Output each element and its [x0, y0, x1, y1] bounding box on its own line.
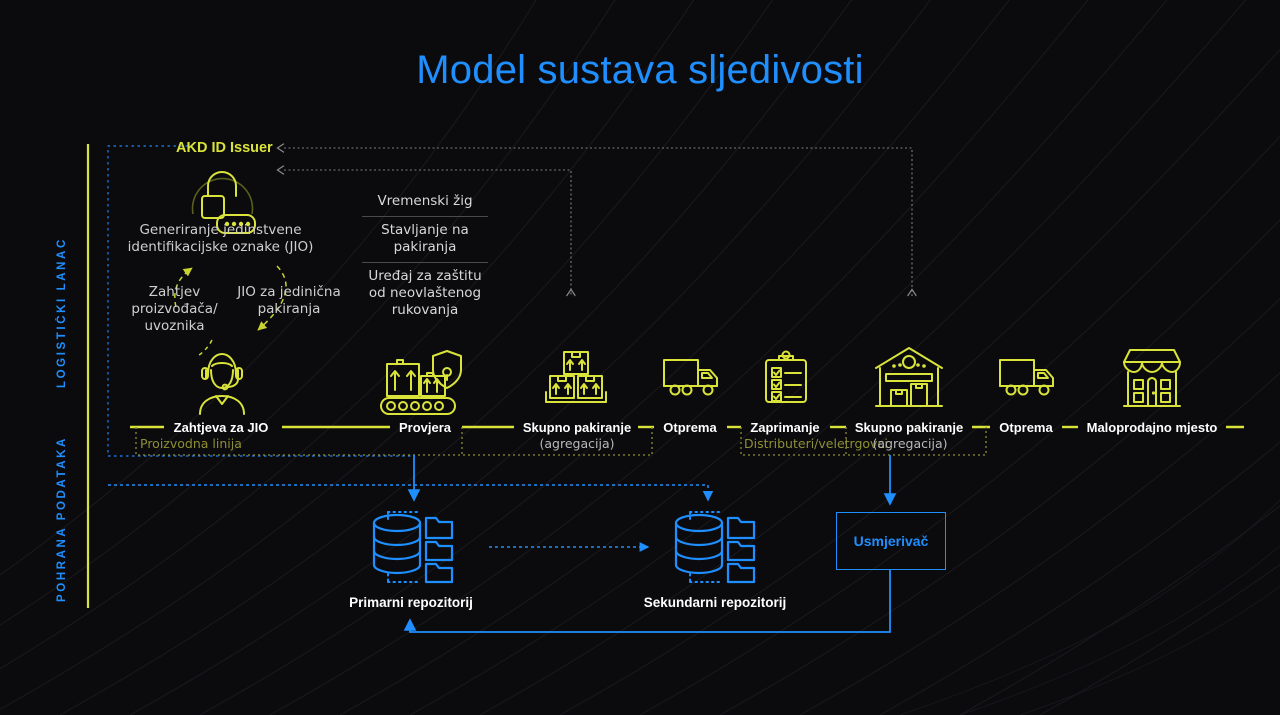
clipboard-check-icon: [766, 352, 806, 403]
router-label: Usmjerivač: [854, 533, 929, 549]
database-folders-icon: [374, 512, 452, 582]
stage-label-skupno-pakiranje-2: Skupno pakiranje: [843, 420, 975, 435]
primary-repository-label: Primarni repozitorij: [330, 595, 492, 610]
stage-label-zaprimanje: Zaprimanje: [738, 420, 832, 435]
stage-label-provjera: Provjera: [387, 420, 463, 435]
warehouse-icon: [876, 348, 942, 406]
stage-label-maloprodajno-mjesto: Maloprodajno mjesto: [1076, 420, 1228, 435]
issuer-jio-label: JIO za jedinična pakiranja: [230, 284, 348, 318]
security-features-list: Vremenski žig Stavljanje na pakiranja Ur…: [362, 188, 488, 325]
truck-icon: [664, 360, 717, 395]
axis-label-data-storage: POHRANA PODATAKA: [56, 438, 68, 602]
security-feature-item: Stavljanje na pakiranja: [362, 216, 488, 262]
stage-label-zahtjeva-za-jio: Zahtjeva za JIO: [161, 420, 281, 435]
conveyor-shield-icon: [381, 351, 461, 414]
issuer-request-label: Zahtjev proizvođača/ uvoznika: [122, 284, 227, 335]
axis-label-supply-chain: LOGISTIČKI LANAC: [56, 252, 68, 388]
database-folders-icon: [676, 512, 754, 582]
security-feature-item: Uređaj za zaštitu od neovlaštenog rukova…: [362, 262, 488, 325]
storefront-icon: [1124, 350, 1180, 406]
stage-label-otprema-2: Otprema: [987, 420, 1065, 435]
cycle-arrow-return: [198, 340, 212, 356]
router-box[interactable]: Usmjerivač: [836, 512, 946, 570]
stacked-boxes-icon: [546, 352, 606, 402]
issuer-title: AKD ID Issuer: [176, 140, 273, 156]
stage-sub-agregacija-1: (agregacija): [511, 436, 643, 451]
operator-headset-icon: [200, 354, 244, 414]
stage-label-skupno-pakiranje-1: Skupno pakiranje: [511, 420, 643, 435]
stage-sub-proizvodna-linija: Proizvodna linija: [140, 436, 302, 451]
security-feature-item: Vremenski žig: [362, 188, 488, 216]
issuer-generate-label: Generiranje jedinstvene identifikacijske…: [118, 222, 323, 256]
timeline-axis: [88, 144, 1248, 608]
stage-label-otprema-1: Otprema: [651, 420, 729, 435]
page-title: Model sustava sljedivosti: [0, 48, 1280, 93]
diagram-canvas: Model sustava sljedivosti LOGISTIČKI LAN…: [0, 0, 1280, 715]
arrow-to-secondary: [108, 485, 708, 500]
truck-icon: [1000, 360, 1053, 395]
secondary-repository-label: Sekundarni repozitorij: [626, 595, 804, 610]
stage-sub-agregacija-2: (agregacija): [866, 436, 954, 451]
